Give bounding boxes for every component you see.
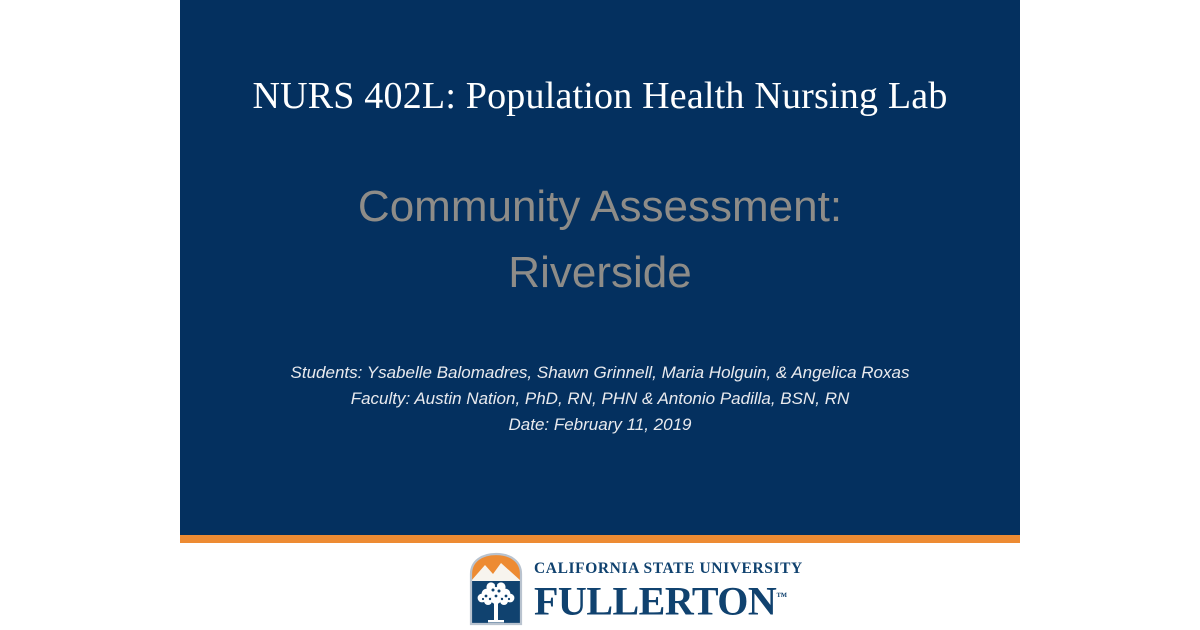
csuf-wordmark-line-1: CALIFORNIA STATE UNIVERSITY: [534, 560, 803, 577]
credits-faculty: Faculty: Austin Nation, PhD, RN, PHN & A…: [180, 386, 1020, 412]
subtitle-line-1: Community Assessment:: [180, 174, 1020, 240]
csuf-wordmark: CALIFORNIA STATE UNIVERSITY FULLERTON™: [534, 556, 803, 621]
subtitle-line-2: Riverside: [180, 240, 1020, 306]
slide-content-panel: NURS 402L: Population Health Nursing Lab…: [180, 0, 1020, 535]
slide-subtitle: Community Assessment: Riverside: [180, 174, 1020, 306]
csuf-shield-tree-icon: [468, 551, 524, 627]
presentation-slide: NURS 402L: Population Health Nursing Lab…: [0, 0, 1200, 630]
credits-date: Date: February 11, 2019: [180, 412, 1020, 438]
csuf-wordmark-line-2: FULLERTON™: [534, 577, 803, 621]
page-title: NURS 402L: Population Health Nursing Lab: [180, 73, 1020, 119]
orange-accent-bar: [180, 535, 1020, 543]
credits-students: Students: Ysabelle Balomadres, Shawn Gri…: [180, 360, 1020, 386]
trademark-symbol: ™: [776, 591, 787, 603]
csuf-logo: CALIFORNIA STATE UNIVERSITY FULLERTON™: [468, 550, 758, 628]
csuf-wordmark-fullerton: FULLERTON: [534, 579, 776, 624]
credits-block: Students: Ysabelle Balomadres, Shawn Gri…: [180, 360, 1020, 438]
